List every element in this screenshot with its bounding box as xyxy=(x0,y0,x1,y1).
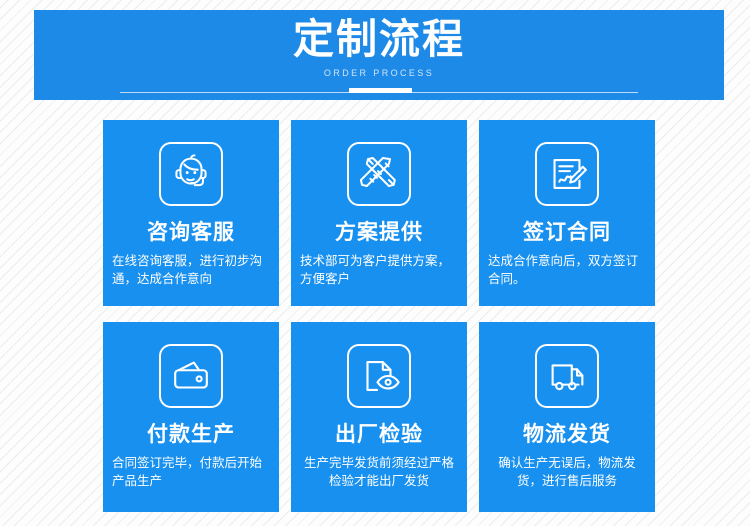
document-eye-inspect-icon xyxy=(347,344,411,408)
process-card-desc: 达成合作意向后，双方签订合同。 xyxy=(488,252,646,288)
icon-wrap xyxy=(103,322,279,408)
contract-signature-icon xyxy=(535,142,599,206)
process-card-title: 方案提供 xyxy=(291,220,467,246)
process-card-grid: 咨询客服 在线咨询客服，进行初步沟通，达成合作意向 xyxy=(103,120,655,512)
process-card-solution[interactable]: 方案提供 技术部可为客户提供方案，方便客户 xyxy=(291,120,467,306)
process-card-consult[interactable]: 咨询客服 在线咨询客服，进行初步沟通，达成合作意向 xyxy=(103,120,279,306)
process-card-title: 付款生产 xyxy=(103,422,279,448)
process-card-desc: 在线咨询客服，进行初步沟通，达成合作意向 xyxy=(112,252,270,288)
wallet-icon xyxy=(159,344,223,408)
process-card-logistics[interactable]: 物流发货 确认生产无误后，物流发货，进行售后服务 xyxy=(479,322,655,512)
icon-wrap xyxy=(291,322,467,408)
page-title: 定制流程 xyxy=(34,17,724,62)
process-card-title: 出厂检验 xyxy=(291,422,467,448)
customer-service-headset-icon xyxy=(159,142,223,206)
process-card-title: 咨询客服 xyxy=(103,220,279,246)
icon-wrap xyxy=(479,322,655,408)
process-card-title: 物流发货 xyxy=(479,422,655,448)
banner-divider-accent xyxy=(349,88,412,93)
icon-wrap xyxy=(103,120,279,206)
icon-wrap xyxy=(479,120,655,206)
process-card-inspection[interactable]: 出厂检验 生产完毕发货前须经过严格检验才能出厂发货 xyxy=(291,322,467,512)
icon-wrap xyxy=(291,120,467,206)
process-card-desc: 技术部可为客户提供方案，方便客户 xyxy=(300,252,458,288)
process-card-title: 签订合同 xyxy=(479,220,655,246)
pencil-ruler-icon xyxy=(347,142,411,206)
process-card-desc: 生产完毕发货前须经过严格检验才能出厂发货 xyxy=(300,454,458,490)
process-card-desc: 确认生产无误后，物流发货，进行售后服务 xyxy=(488,454,646,490)
delivery-truck-icon xyxy=(535,344,599,408)
process-card-contract[interactable]: 签订合同 达成合作意向后，双方签订合同。 xyxy=(479,120,655,306)
process-card-desc: 合同签订完毕，付款后开始产品生产 xyxy=(112,454,270,490)
section-header-banner: 定制流程 ORDER PROCESS xyxy=(34,10,724,100)
page-subtitle: ORDER PROCESS xyxy=(34,68,724,79)
page-root: 定制流程 ORDER PROCESS xyxy=(0,0,750,526)
process-card-payment[interactable]: 付款生产 合同签订完毕，付款后开始产品生产 xyxy=(103,322,279,512)
